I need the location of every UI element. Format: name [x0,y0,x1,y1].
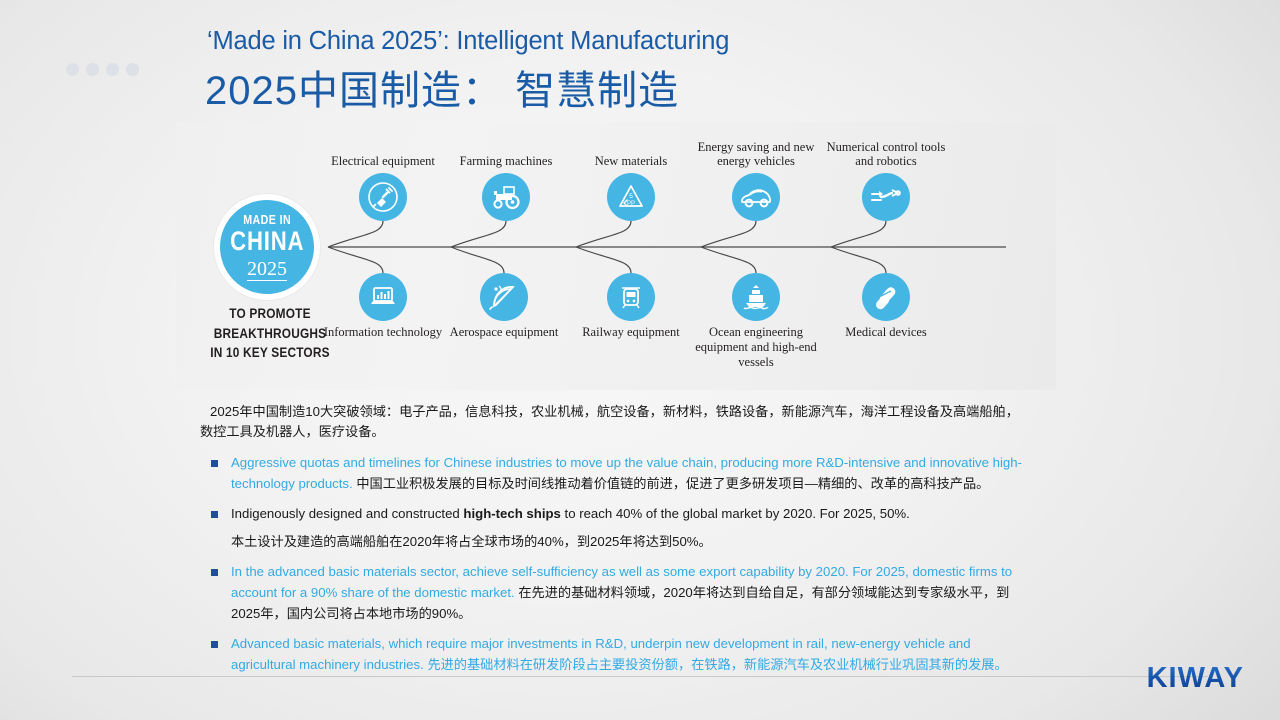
sector-label: Railway equipment [563,325,699,340]
badge-line-1: MADE IN [243,213,291,226]
plug-icon [359,173,407,221]
list-item: Advanced basic materials, which require … [200,634,1030,676]
sector-label: Aerospace equipment [436,325,572,340]
infographic-panel: MADE IN CHINA 2025 TO PROMOTE BREAKTHROU… [176,122,1056,390]
sector-label: Electrical equipment [315,154,451,169]
svg-text:PP: PP [627,201,635,207]
bullet-list: Aggressive quotas and timelines for Chin… [200,453,1030,676]
list-item: Aggressive quotas and timelines for Chin… [200,453,1030,495]
bullet-english-bold: high-tech ships [463,506,560,521]
ship-icon [732,273,780,321]
body-content: 2025年中国制造10大突破领域：电子产品，信息科技，农业机械，航空设备，新材料… [200,402,1030,685]
robot-arm-icon [862,173,910,221]
bullet-english-suffix: to reach 40% of the global market by 202… [561,506,910,521]
badge-line-2: CHINA [230,227,304,255]
sector-label: New materials [563,154,699,169]
pills-icon [862,273,910,321]
tagline-line-2: IN 10 KEY SECTORS [210,345,329,360]
kiway-logo: KIWAY [1147,662,1244,695]
made-in-china-badge: MADE IN CHINA 2025 [214,194,320,300]
recycle-triangle-icon: 5 PP [607,173,655,221]
decorative-dots [66,63,139,76]
sector-label: Medical devices [818,325,954,340]
list-item: Indigenously designed and constructed hi… [200,504,1030,554]
car-icon [732,173,780,221]
badge-line-3: 2025 [247,259,287,281]
list-item: In the advanced basic materials sector, … [200,562,1030,625]
sector-label: Information technology [315,325,451,340]
intro-paragraph: 2025年中国制造10大突破领域：电子产品，信息科技，农业机械，航空设备，新材料… [200,402,1030,443]
dot-1 [66,63,79,76]
page-title-chinese: 2025中国制造： 智慧制造 [205,58,679,116]
sector-label: Numerical control tools and robotics [818,140,954,170]
dot-2 [86,63,99,76]
bullet-chinese-text: 本土设计及建造的高端船舶在2020年将占全球市场的40%，到2025年将达到50… [231,532,1030,553]
sector-label: Ocean engineering equipment and high-end… [688,325,824,369]
dot-4 [126,63,139,76]
tractor-icon [482,173,530,221]
laptop-chart-icon [359,273,407,321]
bullet-chinese-text: 先进的基础材料在研发阶段占主要投资份额，在铁路，新能源汽车及农业机械行业巩固其新… [427,657,1007,672]
satellite-dish-icon [480,273,528,321]
train-icon [607,273,655,321]
bullet-english-prefix: Indigenously designed and constructed [231,506,463,521]
dot-3 [106,63,119,76]
slide-canvas: ‘Made in China 2025’: Intelligent Manufa… [0,0,1280,720]
footer-divider [72,676,1208,677]
sector-label: Energy saving and new energy vehicles [688,140,824,170]
page-title-english: ‘Made in China 2025’: Intelligent Manufa… [207,27,729,56]
svg-text:5: 5 [629,193,633,200]
sector-label: Farming machines [438,154,574,169]
bullet-chinese-text: 中国工业积极发展的目标及时间线推动着价值链的前进，促进了更多研发项目—精细的、改… [356,476,989,491]
tagline-line-1: TO PROMOTE BREAKTHROUGHS [214,306,327,341]
